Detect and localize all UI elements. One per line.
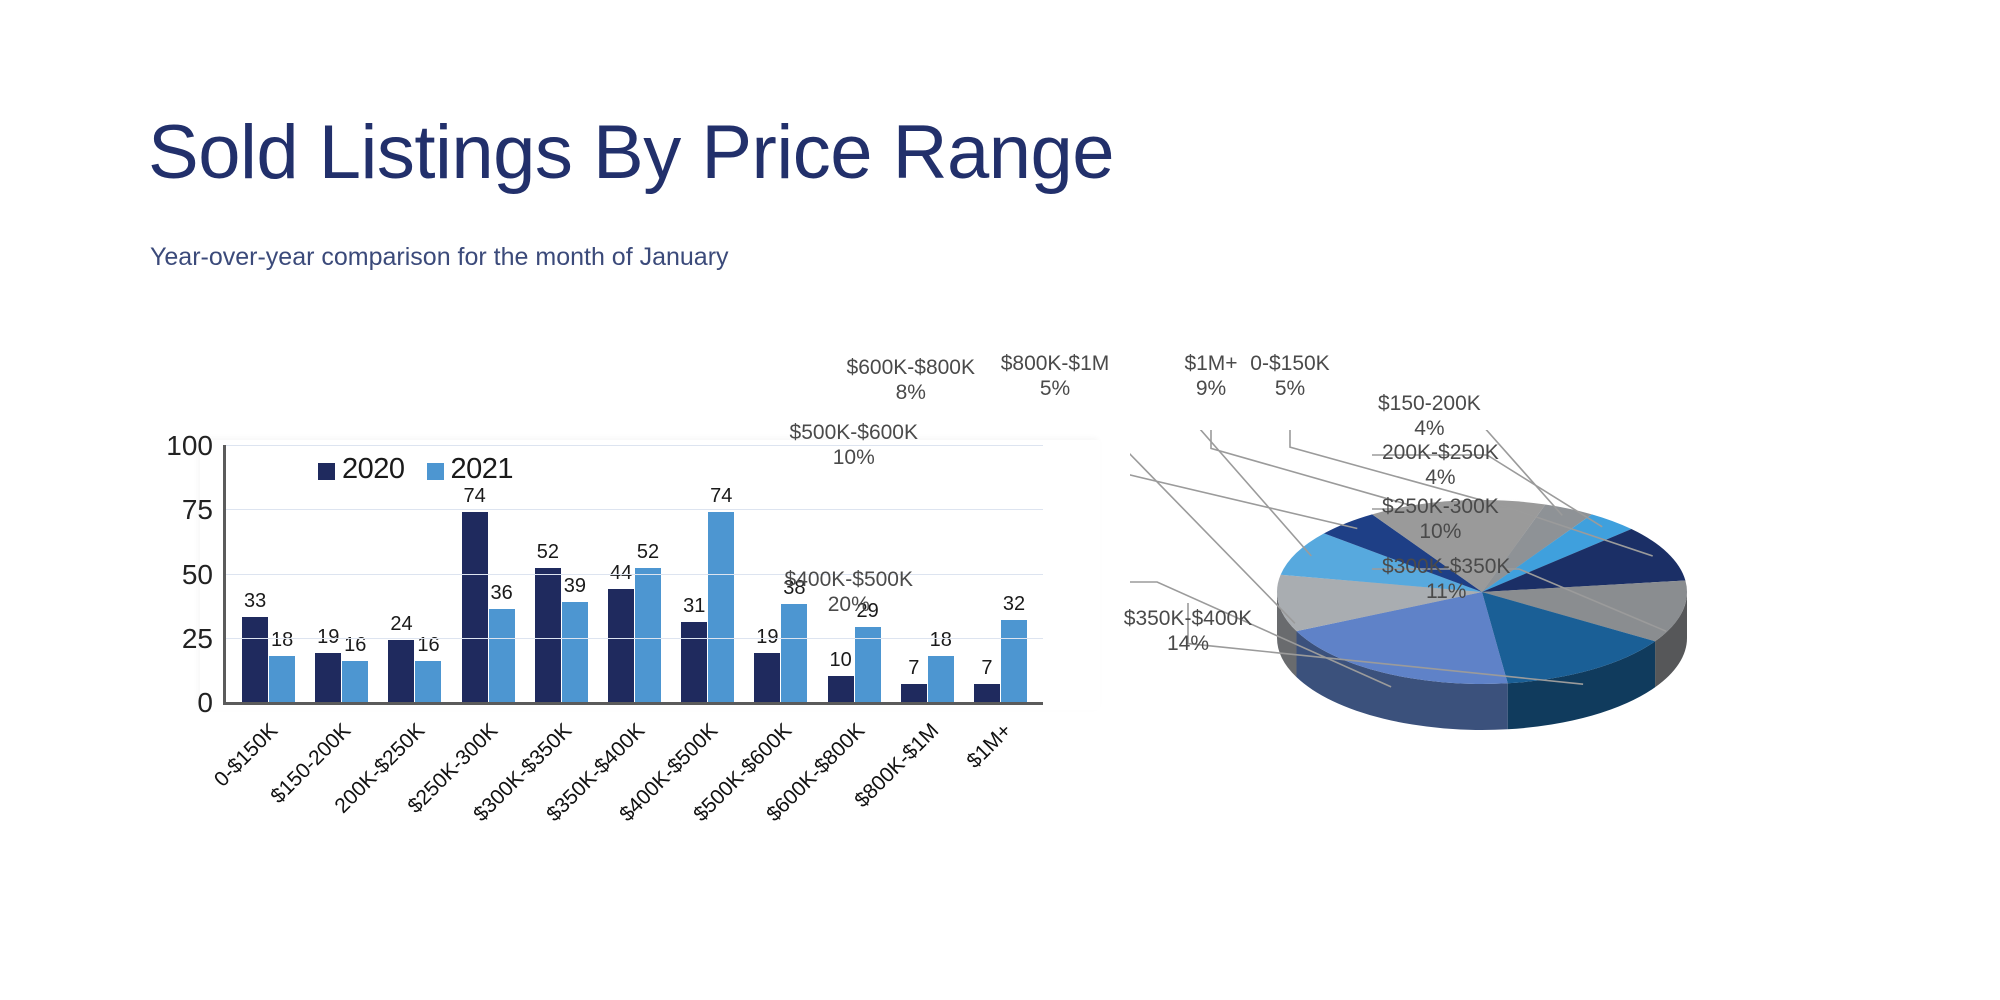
bar-value-label: 52 bbox=[537, 541, 559, 564]
pie-label-$350K-$400K: $350K-$400K14% bbox=[1124, 607, 1252, 657]
bar-rect bbox=[608, 589, 634, 702]
pie-label-name: 200K-$250K bbox=[1382, 441, 1499, 464]
bar-value-label: 24 bbox=[390, 613, 412, 636]
bar-rect bbox=[269, 656, 295, 702]
bar-value-label: 74 bbox=[464, 485, 486, 508]
pie-label-name: $600K-$800K bbox=[847, 356, 975, 379]
y-axis-tick-label: 100 bbox=[153, 430, 213, 462]
pie-label-0-$150K: 0-$150K5% bbox=[1250, 352, 1329, 402]
bar-rect bbox=[901, 684, 927, 702]
bar-value-label: 52 bbox=[637, 541, 659, 564]
pie-label-percent: 8% bbox=[847, 381, 975, 406]
bar-rect bbox=[828, 676, 854, 702]
gridline bbox=[226, 509, 1043, 510]
pie-label-percent: 4% bbox=[1382, 466, 1499, 491]
bar-rect bbox=[681, 622, 707, 702]
pie-label-$300K-$350K: $300K-$350K11% bbox=[1382, 555, 1510, 605]
pie-label-$150-200K: $150-200K4% bbox=[1378, 392, 1481, 442]
bar-chart[interactable]: 0255075100 33181916241674365239445231741… bbox=[155, 445, 1095, 865]
bar-rect bbox=[928, 656, 954, 702]
x-axis-tick-label: $1M+ bbox=[963, 719, 1018, 774]
bar-chart-x-axis-line bbox=[226, 702, 1043, 705]
gridline bbox=[226, 638, 1043, 639]
pie-label-$800K-$1M: $800K-$1M5% bbox=[1001, 352, 1110, 402]
bar-rect bbox=[388, 640, 414, 702]
pie-label-name: $1M+ bbox=[1184, 352, 1237, 375]
bar-rect bbox=[242, 617, 268, 702]
bar-value-label: 18 bbox=[271, 629, 293, 652]
x-axis-tick-label: 0-$150K bbox=[210, 719, 283, 792]
pie-label-name: $250K-300K bbox=[1382, 495, 1499, 518]
pie-label-percent: 11% bbox=[1382, 580, 1510, 605]
x-axis-tick: $800K-$1M bbox=[890, 711, 963, 861]
pie-label-percent: 4% bbox=[1378, 417, 1481, 442]
bar-chart-legend[interactable]: 20202021 bbox=[318, 453, 513, 486]
pie-label-$500K-$600K: $500K-$600K10% bbox=[790, 421, 918, 471]
pie-label-percent: 20% bbox=[785, 593, 913, 618]
pie-label-percent: 9% bbox=[1184, 377, 1237, 402]
bar-rect bbox=[462, 512, 488, 702]
pie-label-name: $400K-$500K bbox=[785, 568, 913, 591]
pie-label-name: $300K-$350K bbox=[1382, 555, 1510, 578]
pie-label-$250K-300K: $250K-300K10% bbox=[1382, 495, 1499, 545]
legend-label: 2020 bbox=[342, 453, 405, 486]
bar-rect bbox=[315, 653, 341, 702]
pie-label-name: $350K-$400K bbox=[1124, 607, 1252, 630]
page-title: Sold Listings By Price Range bbox=[148, 115, 1114, 191]
bar-value-label: 36 bbox=[491, 582, 513, 605]
bar-value-label: 74 bbox=[710, 485, 732, 508]
legend-swatch-icon bbox=[427, 463, 444, 480]
pie-label-percent: 5% bbox=[1250, 377, 1329, 402]
gridline bbox=[226, 445, 1043, 446]
legend-swatch-icon bbox=[318, 463, 335, 480]
bar-value-label: 7 bbox=[908, 657, 919, 680]
y-axis-tick-label: 75 bbox=[153, 494, 213, 526]
bar-rect bbox=[754, 653, 780, 702]
x-axis-tick: $1M+ bbox=[964, 711, 1037, 861]
bar-rect bbox=[781, 604, 807, 702]
pie-label-name: $500K-$600K bbox=[790, 421, 918, 444]
page-subtitle: Year-over-year comparison for the month … bbox=[150, 243, 729, 272]
legend-item-2020[interactable]: 2020 bbox=[318, 453, 405, 486]
bar-rect bbox=[415, 661, 441, 702]
y-axis-tick-label: 25 bbox=[153, 623, 213, 655]
bar-chart-x-axis-labels: 0-$150K$150-200K200K-$250K$250K-300K$300… bbox=[223, 711, 1043, 861]
y-axis-tick-label: 50 bbox=[153, 559, 213, 591]
bar-rect bbox=[974, 684, 1000, 702]
gridline bbox=[226, 574, 1043, 575]
pie-chart-svg bbox=[1130, 430, 1960, 790]
bar-rect bbox=[562, 602, 588, 702]
pie-label-$400K-$500K: $400K-$500K20% bbox=[785, 568, 913, 618]
pie-label-percent: 14% bbox=[1124, 632, 1252, 657]
legend-label: 2021 bbox=[451, 453, 514, 486]
pie-label-name: $800K-$1M bbox=[1001, 352, 1110, 375]
bar-rect bbox=[489, 609, 515, 702]
pie-label-name: 0-$150K bbox=[1250, 352, 1329, 375]
pie-label-$1M+: $1M+9% bbox=[1184, 352, 1237, 402]
pie-label-percent: 5% bbox=[1001, 377, 1110, 402]
pie-label-name: $150-200K bbox=[1378, 392, 1481, 415]
bar-value-label: 31 bbox=[683, 595, 705, 618]
bar-rect bbox=[635, 568, 661, 702]
legend-item-2021[interactable]: 2021 bbox=[427, 453, 514, 486]
bar-rect bbox=[342, 661, 368, 702]
bar-value-label: 18 bbox=[930, 629, 952, 652]
slide-canvas: Sold Listings By Price Range Year-over-y… bbox=[0, 0, 2000, 1000]
bar-chart-plot-area: 3318191624167436523944523174193810297187… bbox=[223, 445, 1043, 705]
bar-value-label: 32 bbox=[1003, 593, 1025, 616]
bar-rect bbox=[708, 512, 734, 702]
bar-chart-y-axis: 0255075100 bbox=[155, 445, 213, 705]
bar-rect bbox=[535, 568, 561, 702]
bar-value-label: 7 bbox=[981, 657, 992, 680]
bar-value-label: 39 bbox=[564, 575, 586, 598]
pie-chart[interactable]: 0-$150K5%$150-200K4%200K-$250K4%$250K-30… bbox=[1130, 430, 1960, 790]
bar-rect bbox=[1001, 620, 1027, 702]
pie-label-percent: 10% bbox=[1382, 520, 1499, 545]
pie-label-200K-$250K: 200K-$250K4% bbox=[1382, 441, 1499, 491]
pie-label-$600K-$800K: $600K-$800K8% bbox=[847, 356, 975, 406]
pie-leader-line bbox=[1130, 430, 1311, 556]
bar-value-label: 10 bbox=[829, 649, 851, 672]
bar-value-label: 33 bbox=[244, 590, 266, 613]
pie-label-percent: 10% bbox=[790, 446, 918, 471]
y-axis-tick-label: 0 bbox=[153, 687, 213, 719]
